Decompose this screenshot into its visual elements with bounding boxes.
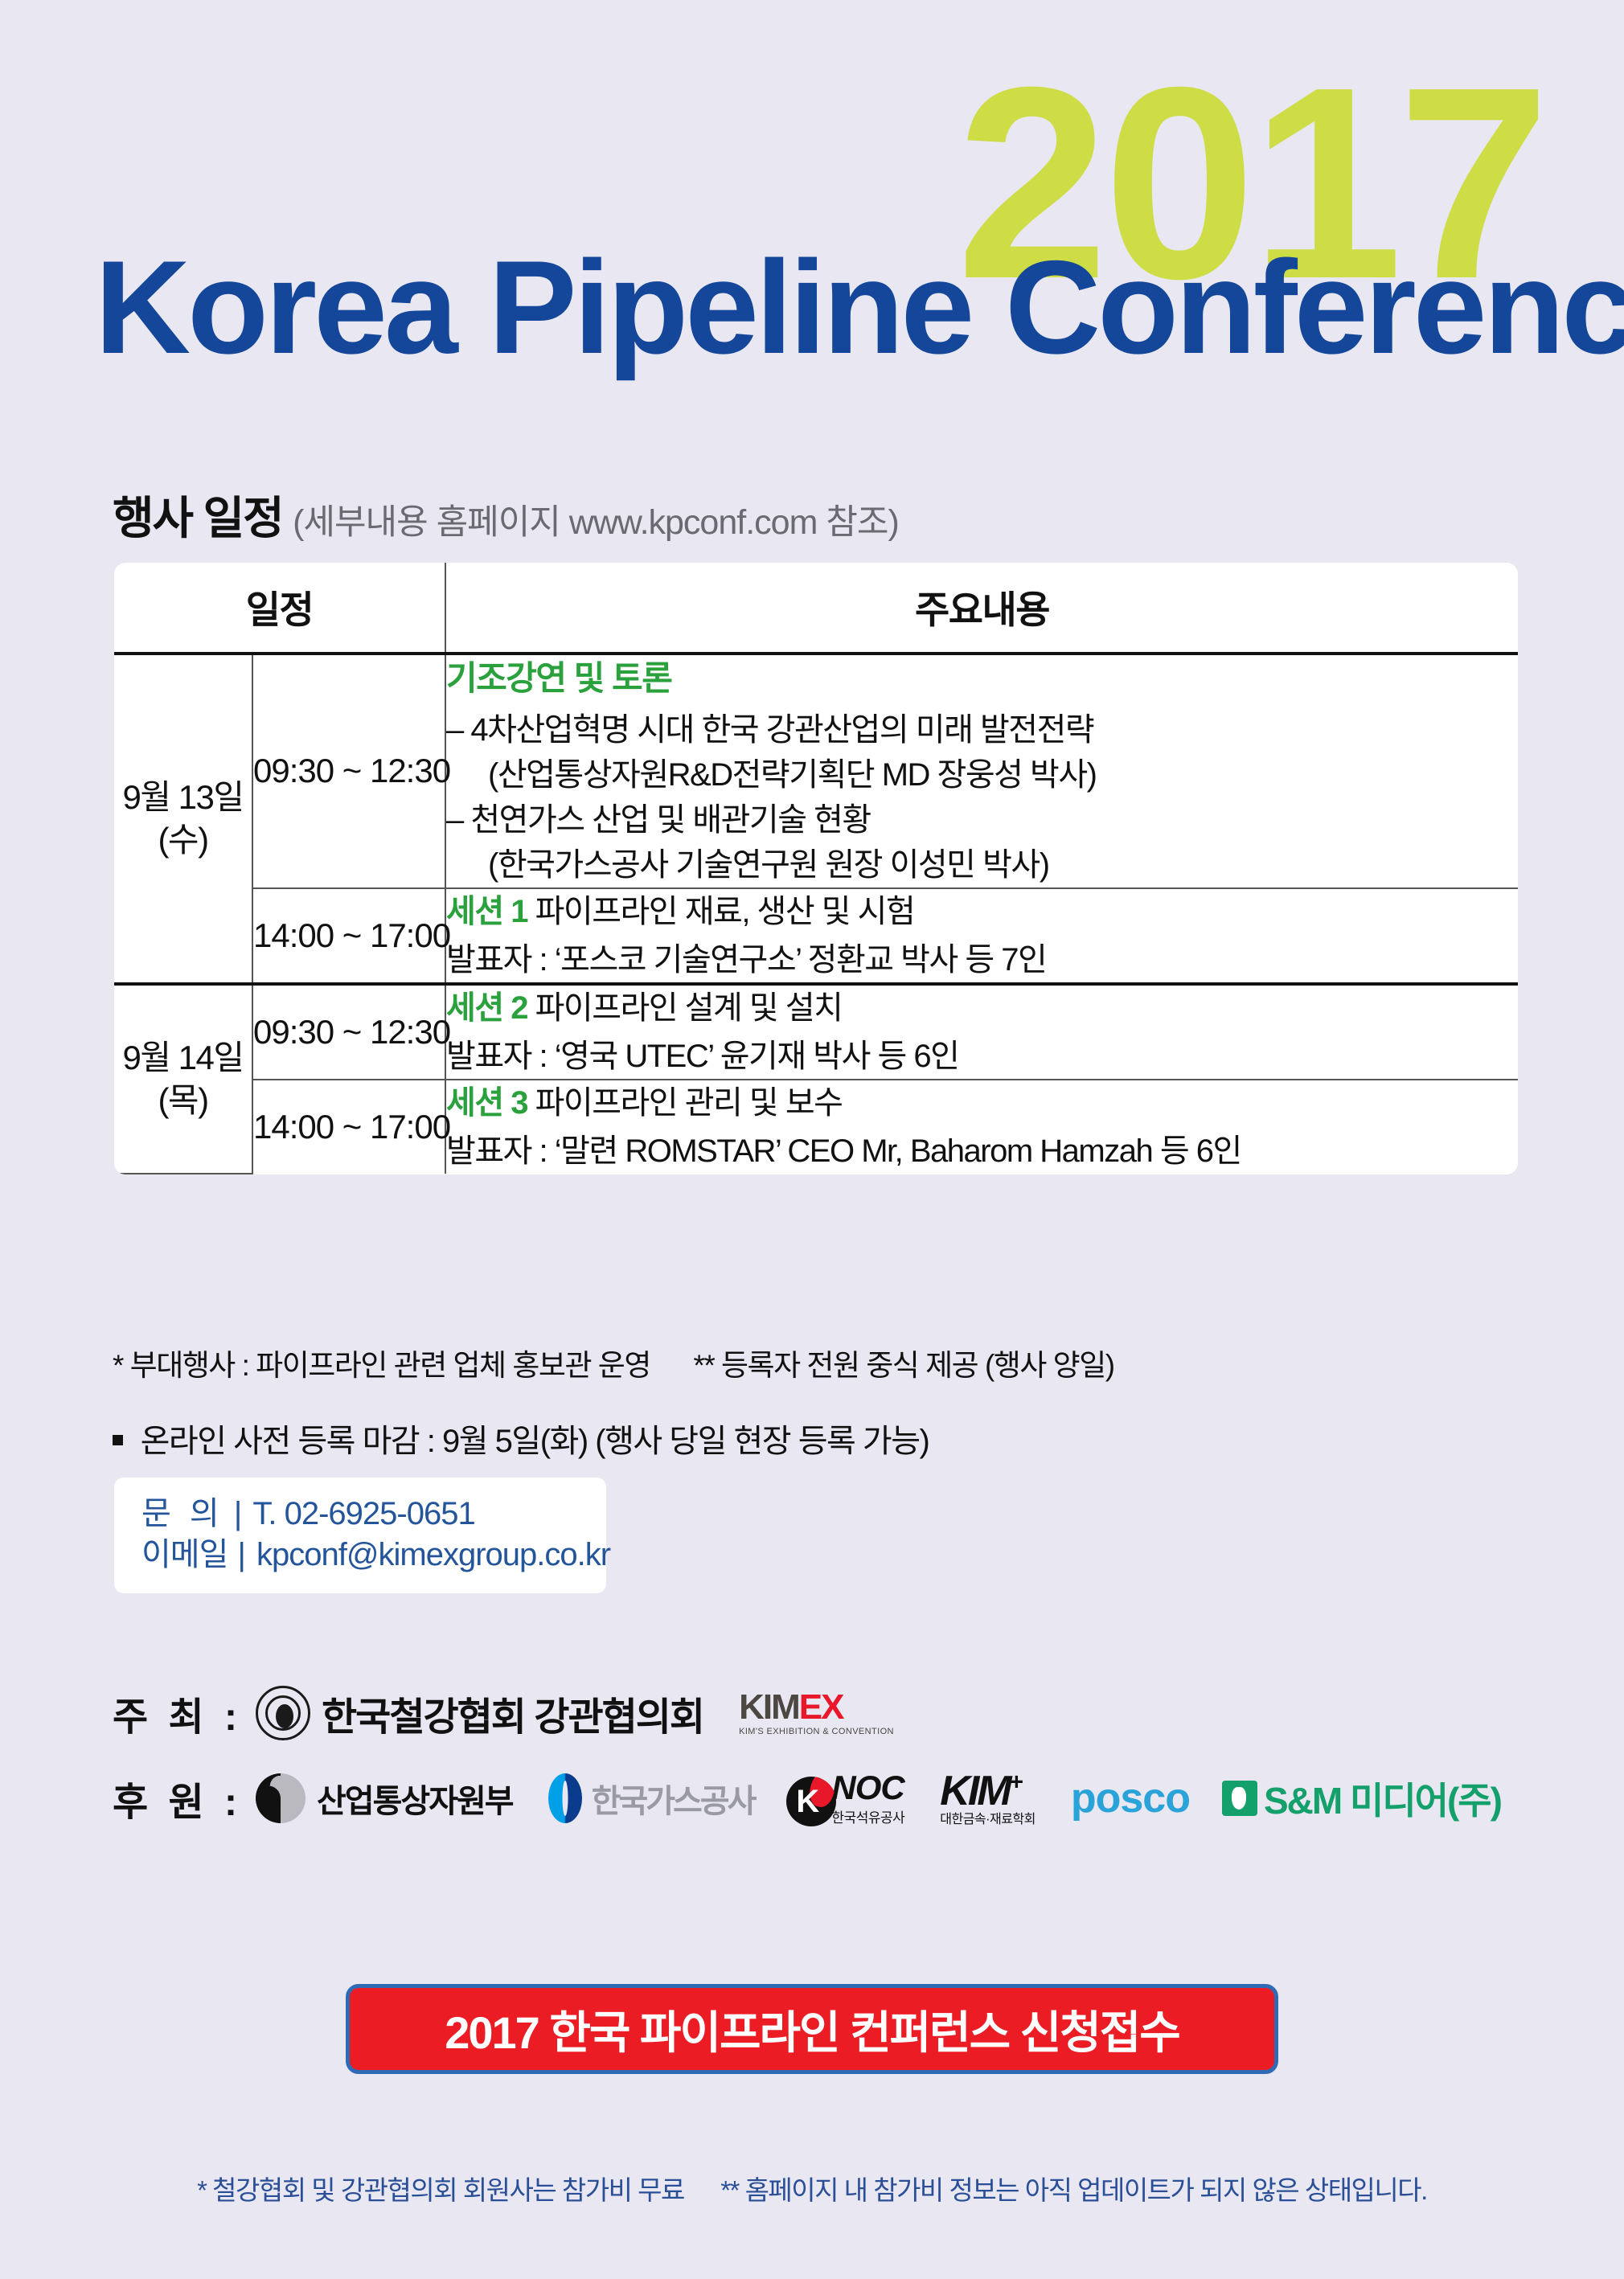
session-headline: 세션 2 파이프라인 설계 및 설치 xyxy=(446,986,1518,1031)
sponsor-label: 후 원 : xyxy=(113,1770,256,1826)
date-label: 9월 13일 xyxy=(114,776,252,819)
organizers-block: 주 최 : 한국철강협회 강관협의회 KIMEX KIM'S EXHIBITIO… xyxy=(113,1670,1528,1841)
knoc-logo: NOC 한국석유공사 xyxy=(786,1771,904,1826)
contact-separator: | xyxy=(234,1496,241,1531)
apply-button[interactable]: 2017 한국 파이프라인 컨퍼런스 신청접수 xyxy=(346,1984,1278,2074)
kim-logo-wordmark: KIM+ xyxy=(940,1770,1036,1812)
session-tag: 세션 3 xyxy=(446,1085,527,1121)
contact-phone-line: 문 의 | T. 02-6925-0651 xyxy=(141,1494,582,1535)
date-cell-day2: 9월 14일 (목) xyxy=(114,984,252,1174)
column-header-content: 주요내용 xyxy=(445,563,1518,654)
schedule-table: 일정 주요내용 9월 13일 (수) 09:30 ~ 12:30 기조강연 및 … xyxy=(114,563,1518,1174)
note-lunch: ** 등록자 전원 중식 제공 (행사 양일) xyxy=(693,1349,1113,1382)
host-label: 주 최 : xyxy=(113,1685,256,1741)
contact-separator: | xyxy=(238,1537,245,1572)
time-cell: 09:30 ~ 12:30 xyxy=(252,984,445,1080)
footer-note-2: ** 홈페이지 내 참가비 정보는 아직 업데이트가 되지 않은 상태입니다. xyxy=(720,2175,1427,2205)
kim-logo-subtext: 대한금속·재료학회 xyxy=(940,1814,1036,1826)
keynote-item-line: – 4차산업혁명 시대 한국 강관산업의 미래 발전전략 xyxy=(446,707,1518,752)
knoc-logo-text-group: NOC 한국석유공사 xyxy=(831,1771,904,1826)
session-presenter: 발표자 : ‘영국 UTEC’ 윤기재 박사 등 6인 xyxy=(446,1034,1518,1079)
kimex-text-part1: KIM xyxy=(739,1687,799,1727)
keynote-item-sub: (산업통상자원R&D전략기획단 MD 장웅성 박사) xyxy=(446,752,1518,797)
table-row: 14:00 ~ 17:00 세션 3 파이프라인 관리 및 보수 발표자 : ‘… xyxy=(114,1080,1518,1174)
kogas-logo: 한국가스공사 xyxy=(548,1773,755,1823)
notes-row: * 부대행사 : 파이프라인 관련 업체 홍보관 운영 ** 등록자 전원 중식… xyxy=(113,1341,1114,1384)
session-tag: 세션 2 xyxy=(446,990,527,1026)
motie-logo: 산업통상자원부 xyxy=(256,1773,513,1823)
table-row: 14:00 ~ 17:00 세션 1 파이프라인 재료, 생산 및 시험 발표자… xyxy=(114,888,1518,984)
keynote-item-line: – 천연가스 산업 및 배관기술 현황 xyxy=(446,797,1518,842)
contact-email-label: 이메일 xyxy=(141,1537,228,1572)
snm-logo-text: S&M 미디어(주) xyxy=(1264,1772,1501,1825)
weekday-label: (수) xyxy=(114,818,252,862)
square-bullet-icon xyxy=(113,1435,123,1445)
time-cell: 09:30 ~ 12:30 xyxy=(252,654,445,888)
session-presenter: 발표자 : ‘포스코 기술연구소’ 정환교 박사 등 7인 xyxy=(446,937,1518,982)
table-row: 9월 14일 (목) 09:30 ~ 12:30 세션 2 파이프라인 설계 및… xyxy=(114,984,1518,1080)
kosa-seal-icon xyxy=(256,1686,310,1740)
posco-logo: posco xyxy=(1071,1774,1190,1822)
schedule-heading-main: 행사 일정 xyxy=(113,493,283,543)
footer-note-1: * 철강협회 및 강관협의회 회원사는 참가비 무료 xyxy=(197,2175,684,2205)
footer-notes: * 철강협회 및 강관협의회 회원사는 참가비 무료 ** 홈페이지 내 참가비… xyxy=(0,2169,1624,2207)
table-row: 9월 13일 (수) 09:30 ~ 12:30 기조강연 및 토론 – 4차산… xyxy=(114,654,1518,888)
date-cell-day1: 9월 13일 (수) xyxy=(114,654,252,984)
content-cell-session3: 세션 3 파이프라인 관리 및 보수 발표자 : ‘말련 ROMSTAR’ CE… xyxy=(445,1080,1518,1174)
time-cell: 14:00 ~ 17:00 xyxy=(252,888,445,984)
session-headline: 세션 3 파이프라인 관리 및 보수 xyxy=(446,1080,1518,1125)
contact-phone-label: 문 의 xyxy=(141,1496,224,1531)
table-header-row: 일정 주요내용 xyxy=(114,563,1518,654)
contact-email-value[interactable]: kpconf@kimexgroup.co.kr xyxy=(256,1537,610,1572)
kim-plus-icon: + xyxy=(1010,1769,1022,1796)
sponsor-row: 후 원 : 산업통상자원부 한국가스공사 NOC 한국석유공사 KIM+ 대한금… xyxy=(113,1756,1528,1841)
kogas-mark-icon xyxy=(548,1773,582,1823)
content-cell-session2: 세션 2 파이프라인 설계 및 설치 발표자 : ‘영국 UTEC’ 윤기재 박… xyxy=(445,984,1518,1080)
session-presenter: 발표자 : ‘말련 ROMSTAR’ CEO Mr, Baharom Hamza… xyxy=(446,1129,1518,1174)
keynote-tag: 기조강연 및 토론 xyxy=(446,655,1518,703)
date-label: 9월 14일 xyxy=(114,1036,252,1080)
kimex-logo: KIMEX KIM'S EXHIBITION & CONVENTION xyxy=(739,1690,894,1736)
keynote-item-sub: (한국가스공사 기술연구원 원장 이성민 박사) xyxy=(446,842,1518,887)
snm-logo: S&M 미디어(주) xyxy=(1222,1772,1501,1825)
contact-box: 문 의 | T. 02-6925-0651 이메일 | kpconf@kimex… xyxy=(114,1478,606,1593)
kosa-logo-text: 한국철강협회 강관협의회 xyxy=(322,1685,703,1741)
motie-logo-text: 산업통상자원부 xyxy=(317,1775,513,1822)
contact-phone-value[interactable]: T. 02-6925-0651 xyxy=(252,1496,474,1531)
session-tag: 세션 1 xyxy=(446,894,527,929)
page-title: Korea Pipeline Conference xyxy=(95,241,1624,374)
hero-banner: 2017 Korea Pipeline Conference xyxy=(0,0,1624,418)
session-title: 파이프라인 설계 및 설치 xyxy=(535,990,843,1026)
apply-button-label: 2017 한국 파이프라인 컨퍼런스 신청접수 xyxy=(445,1997,1179,2062)
kimex-text-part2: EX xyxy=(799,1687,843,1727)
session-title: 파이프라인 재료, 생산 및 시험 xyxy=(535,894,915,929)
kim-logo: KIM+ 대한금속·재료학회 xyxy=(940,1770,1036,1826)
registration-note: 온라인 사전 등록 마감 : 9월 5일(화) (행사 당일 현장 등록 가능) xyxy=(113,1415,929,1461)
kimex-logo-wordmark: KIMEX xyxy=(739,1690,894,1725)
kim-logo-text: KIM xyxy=(940,1768,1009,1814)
weekday-label: (목) xyxy=(114,1079,252,1122)
session-headline: 세션 1 파이프라인 재료, 생산 및 시험 xyxy=(446,889,1518,934)
host-row: 주 최 : 한국철강협회 강관협의회 KIMEX KIM'S EXHIBITIO… xyxy=(113,1670,1528,1756)
knoc-logo-subtext: 한국석유공사 xyxy=(831,1806,904,1826)
session-title: 파이프라인 관리 및 보수 xyxy=(535,1085,843,1121)
taegeuk-icon xyxy=(256,1773,306,1823)
knoc-mark-icon xyxy=(786,1777,836,1826)
schedule-heading: 행사 일정 (세부내용 홈페이지 www.kpconf.com 참조) xyxy=(113,482,899,547)
kimex-tagline: KIM'S EXHIBITION & CONVENTION xyxy=(739,1728,894,1736)
contact-email-line: 이메일 | kpconf@kimexgroup.co.kr xyxy=(141,1535,582,1576)
kogas-logo-text: 한국가스공사 xyxy=(592,1775,755,1822)
schedule-table-container: 일정 주요내용 9월 13일 (수) 09:30 ~ 12:30 기조강연 및 … xyxy=(114,563,1518,1174)
note-side-event: * 부대행사 : 파이프라인 관련 업체 홍보관 운영 xyxy=(113,1349,650,1382)
time-cell: 14:00 ~ 17:00 xyxy=(252,1080,445,1174)
knoc-logo-text: NOC xyxy=(831,1771,904,1805)
schedule-heading-sub: (세부내용 홈페이지 www.kpconf.com 참조) xyxy=(293,503,899,542)
snm-mark-icon xyxy=(1222,1781,1257,1816)
kosa-logo: 한국철강협회 강관협의회 xyxy=(256,1685,703,1741)
content-cell-keynote: 기조강연 및 토론 – 4차산업혁명 시대 한국 강관산업의 미래 발전전략 (… xyxy=(445,654,1518,888)
content-cell-session1: 세션 1 파이프라인 재료, 생산 및 시험 발표자 : ‘포스코 기술연구소’… xyxy=(445,888,1518,984)
column-header-date: 일정 xyxy=(114,563,445,654)
registration-note-text: 온라인 사전 등록 마감 : 9월 5일(화) (행사 당일 현장 등록 가능) xyxy=(141,1424,929,1459)
